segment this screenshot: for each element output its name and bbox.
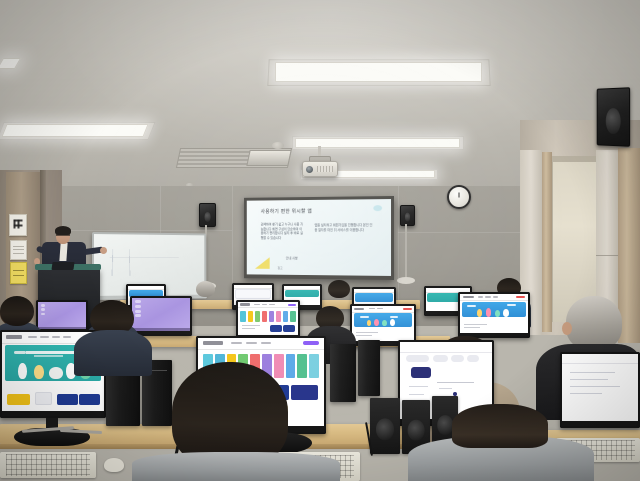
presenter-right-hand: [100, 247, 107, 254]
notice-caution: [10, 262, 27, 284]
site-navbar: [460, 294, 528, 301]
site-page: [352, 306, 414, 341]
site-nav-link[interactable]: [493, 296, 498, 297]
attendee-torso-p1: [74, 330, 152, 376]
slide-decoration-dot: [373, 205, 382, 211]
monitor-second-2: [130, 296, 192, 336]
site-nav-link[interactable]: [40, 336, 49, 338]
document-text-line: [570, 386, 620, 387]
site-nav-link[interactable]: [52, 336, 60, 338]
right-wall-seam: [596, 255, 618, 256]
speaker-cone: [405, 213, 411, 222]
site-logo[interactable]: [203, 341, 223, 345]
site-button-row[interactable]: [270, 325, 295, 332]
slide-note: 안내 사항: [286, 255, 298, 260]
form-nav-pill[interactable]: [451, 355, 465, 362]
wall-clock: [447, 185, 471, 209]
notice-line: [13, 270, 24, 271]
site-logo[interactable]: [6, 335, 22, 339]
mouse-front-1[interactable]: [104, 458, 124, 472]
attendee-head-p8: [0, 296, 34, 326]
site-text-line: [242, 328, 255, 329]
grid-tile[interactable]: [269, 311, 274, 322]
projection-screen: 사용하기 편한 위시할 앱 검색하여 찾기 쉽고 누구나 사용 가능합니다 화면…: [244, 196, 394, 280]
site-button[interactable]: [270, 325, 282, 332]
slide-body-left: 검색하여 찾기 쉽고 누구나 사용 가능합니다 화면 구성이 단순하여 이용하기…: [261, 223, 303, 241]
slide-title: 사용하기 편한 위시할 앱: [261, 207, 313, 214]
projector-lens: [306, 166, 313, 173]
grid-tile[interactable]: [262, 311, 267, 322]
site-text-line: [242, 325, 260, 326]
site-cta-button[interactable]: [403, 308, 411, 310]
attendee-ear-p3: [562, 322, 572, 335]
site-button-row[interactable]: [57, 394, 100, 405]
monitor-second-1: [36, 300, 88, 334]
speaker-cone: [437, 415, 453, 435]
site-nav-link[interactable]: [262, 304, 267, 305]
projector: [302, 161, 338, 177]
site-logo[interactable]: [463, 296, 474, 298]
desktop-icon: [135, 300, 140, 303]
site-text-line: [464, 324, 487, 325]
site-hero-banner: [285, 290, 319, 298]
notice-qr: [9, 214, 27, 236]
keyboard-front-1[interactable]: [0, 452, 96, 478]
notice-line: [13, 249, 24, 250]
desktop-icon: [135, 310, 140, 313]
site-text-line: [356, 332, 378, 333]
ceiling-light-1: [275, 62, 482, 82]
site-button[interactable]: [57, 394, 78, 405]
classroom-photo: 사용하기 편한 위시할 앱 검색하여 찾기 쉽고 누구나 사용 가능합니다 화면…: [0, 0, 640, 481]
form-nav-pill[interactable]: [467, 355, 479, 362]
wall-seam-5: [398, 186, 399, 306]
desktop-icon: [41, 313, 45, 315]
cloud-graphic: [14, 351, 26, 354]
site-cta-button[interactable]: [516, 296, 525, 298]
illustration-figure: [18, 363, 27, 379]
app-category-grid[interactable]: [240, 311, 295, 322]
illustration-figure: [477, 309, 482, 316]
speaker-cone: [408, 420, 425, 441]
speaker-stand-right: [405, 224, 407, 280]
right-wall-wood-column-1: [542, 152, 552, 332]
monitor-second-3: [236, 300, 300, 340]
site-cta-button[interactable]: [288, 304, 296, 306]
site-nav-link[interactable]: [261, 342, 271, 344]
site-logo[interactable]: [240, 303, 250, 305]
cloud-graphic: [360, 316, 369, 318]
grid-tile[interactable]: [290, 311, 295, 322]
form-text-line: [409, 394, 424, 395]
site-hero-banner: [355, 293, 393, 301]
monitor-chin: [0, 411, 106, 418]
form-text-line: [439, 388, 452, 389]
site-nav-link[interactable]: [28, 336, 37, 338]
notice-line: [13, 246, 24, 247]
grid-tile[interactable]: [297, 354, 307, 378]
grid-tile[interactable]: [255, 311, 260, 322]
illustration-figure: [34, 365, 45, 379]
monitor-screen: [562, 354, 638, 423]
speaker-cone: [606, 108, 620, 134]
site-cta-button[interactable]: [303, 341, 319, 345]
attendee-head-p2: [172, 362, 288, 466]
monitor-screen: [352, 306, 414, 341]
slide-triangle-graphic: [255, 257, 270, 269]
document-text-line: [570, 379, 608, 380]
pc-tower-front-4: [358, 340, 380, 396]
slide-body-right: 앱을 설치하고 회원가입을 진행합니다 본인 인증 절차를 마친 뒤 서비스를 …: [314, 223, 373, 232]
monitor-screen: [38, 302, 86, 329]
site-page: [460, 294, 528, 333]
whiteboard-writing: [110, 249, 179, 276]
site-card[interactable]: [35, 392, 52, 405]
pc-tower-front-3: [330, 344, 356, 402]
desktop-icon: [41, 308, 45, 310]
notice-line: [13, 253, 24, 254]
grid-tile[interactable]: [248, 311, 253, 322]
site-text-line: [356, 335, 372, 336]
site-button[interactable]: [283, 325, 295, 332]
projection-screen-surface: 사용하기 편한 위시할 앱 검색하여 찾기 쉽고 누구나 사용 가능합니다 화면…: [247, 199, 391, 276]
lectern-laptop: [51, 262, 74, 270]
attendee-head-p10: [328, 280, 350, 298]
illustration-figure: [495, 310, 500, 317]
wall-seam-3: [232, 186, 233, 296]
document-text-line: [570, 393, 602, 394]
attendee-head-p9: [196, 281, 215, 297]
grid-tile[interactable]: [240, 311, 245, 322]
grid-tile[interactable]: [274, 354, 284, 378]
site-hero-banner: [354, 313, 412, 327]
site-nav-link[interactable]: [377, 308, 383, 309]
monitor-second-5: [458, 292, 530, 338]
right-wall-wood-column-2: [618, 148, 640, 343]
site-logo[interactable]: [354, 308, 364, 310]
site-yellow-button[interactable]: [7, 394, 29, 405]
grid-tile[interactable]: [286, 354, 296, 378]
wall-speaker-right: [597, 87, 630, 147]
form-text-line: [409, 386, 427, 387]
site-button[interactable]: [291, 385, 318, 400]
slide-mark: 참고: [277, 266, 282, 270]
desktop-wallpaper: [132, 298, 190, 331]
monitor-front-4: [560, 352, 640, 428]
site-nav-link[interactable]: [269, 304, 274, 305]
form-primary-button[interactable]: [411, 367, 431, 377]
keyboard-keys[interactable]: [6, 454, 91, 475]
cloud-graphic: [390, 316, 398, 318]
site-text-line: [464, 327, 480, 328]
illustration-figure: [382, 320, 387, 326]
notice-info: [10, 240, 27, 260]
document-page: [562, 354, 638, 423]
illustration-figure: [390, 319, 395, 326]
monitor-screen: [460, 294, 528, 333]
site-nav-link[interactable]: [246, 342, 257, 344]
desktop-wallpaper: [38, 302, 86, 329]
illustration-figure: [503, 309, 509, 317]
form-topbar: [400, 342, 492, 353]
attendee-head-p3: [566, 296, 622, 350]
desktop-speaker-1: [370, 398, 400, 454]
site-nav-link[interactable]: [485, 296, 490, 297]
form-nav-pill[interactable]: [433, 355, 448, 362]
hero-subline: [34, 355, 63, 357]
grid-tile[interactable]: [283, 311, 288, 322]
qr-code-icon: [14, 220, 23, 229]
projector-vent: [317, 166, 333, 172]
presenter-shirt: [59, 243, 67, 261]
speaker-stand-base-right: [397, 277, 415, 284]
speaker-cone: [376, 419, 394, 440]
monitor-chin: [560, 421, 640, 428]
wall-speaker-mid-right: [400, 205, 415, 226]
wall-seam-6: [398, 232, 530, 233]
notice-line: [13, 275, 24, 276]
illustration-figure: [486, 308, 492, 317]
site-hero-banner: [235, 289, 271, 299]
site-nav-link[interactable]: [369, 308, 375, 309]
wall-speaker-mid-left: [199, 203, 216, 227]
site-navbar: [198, 338, 324, 350]
site-navbar: [238, 302, 298, 308]
site-button[interactable]: [79, 394, 100, 405]
document-text-line: [570, 372, 616, 373]
form-section-divider: [437, 382, 474, 383]
smoke-detector: [272, 142, 284, 149]
cloud-graphic: [507, 304, 516, 306]
site-nav-link[interactable]: [254, 304, 260, 305]
site-page: [238, 302, 298, 335]
speaker-cone: [204, 212, 211, 222]
grid-tile[interactable]: [276, 311, 281, 322]
ceiling-light-2: [1, 124, 148, 137]
illustration-figure: [367, 320, 372, 326]
cloud-graphic: [467, 305, 476, 307]
monitor-screen: [132, 298, 190, 331]
air-vent-louver: [246, 150, 291, 166]
site-nav-link[interactable]: [231, 342, 242, 344]
desktop-icon: [135, 305, 140, 308]
desktop-icon: [41, 304, 45, 306]
attendee-head-front-right: [452, 404, 548, 448]
site-nav-link[interactable]: [63, 336, 71, 338]
site-hero-banner: [462, 302, 526, 318]
illustration-figure: [374, 319, 379, 326]
site-nav-link[interactable]: [478, 296, 483, 297]
presenter-hair: [55, 226, 71, 235]
monitor-screen: [238, 302, 298, 335]
attendee-torso-p2: [132, 452, 340, 481]
grid-tile[interactable]: [309, 354, 319, 378]
illustration-figure: [49, 367, 62, 379]
form-nav-pill[interactable]: [406, 355, 430, 362]
desktop-icon: [135, 314, 140, 317]
document-topbar: [562, 354, 638, 364]
hero-headline: [26, 351, 76, 354]
site-navbar: [352, 306, 414, 313]
